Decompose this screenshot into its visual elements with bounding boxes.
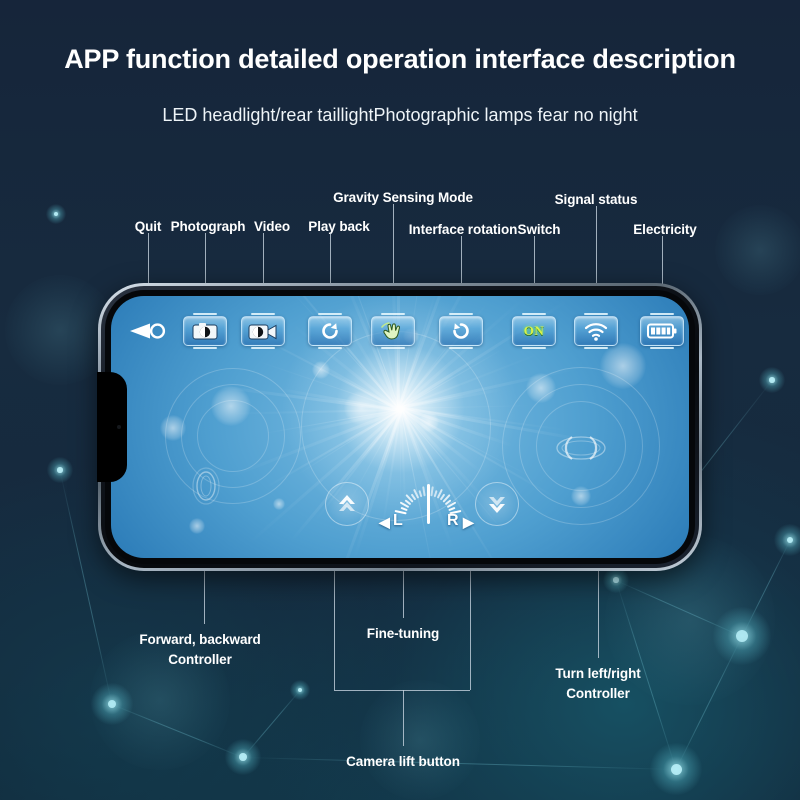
callout-label-battery: Electricity [633, 220, 696, 240]
toolbar-camera-button[interactable] [183, 316, 227, 346]
screen-orb [273, 498, 285, 510]
leader-line [470, 556, 471, 690]
callout-line1: Camera lift button [346, 752, 460, 772]
gauge-tick [418, 490, 422, 497]
gauge-tick [422, 486, 425, 496]
toolbar-wifi-button[interactable] [574, 316, 618, 346]
right-side-pad[interactable] [551, 425, 611, 471]
bottom-callout-3: Camera lift button [346, 752, 460, 772]
app-toolbar: ON [111, 316, 689, 356]
callout-label-on-switch: Switch [518, 220, 561, 240]
toolbar-on-switch-button[interactable]: ON [512, 316, 556, 346]
replay-icon [319, 320, 341, 342]
bottom-callout-0: Forward, backwardController [139, 630, 260, 669]
callout-line1: Turn left/right [555, 664, 640, 684]
chevron-down-icon [486, 492, 508, 516]
forward-backward-joystick[interactable] [325, 482, 369, 526]
chevron-up-icon [336, 492, 358, 516]
callout-line1: Forward, backward [139, 630, 260, 650]
bottom-callout-2: Turn left/rightController [555, 664, 640, 703]
callout-label-camcorder: Video [254, 217, 290, 237]
camera-icon [192, 322, 218, 340]
phone-notch [97, 372, 127, 482]
callout-label-camera: Photograph [171, 217, 246, 237]
gauge-needle [427, 484, 430, 524]
bottom-callout-1: Fine-tuning [367, 624, 439, 644]
page-subtitle: LED headlight/rear taillightPhotographic… [0, 105, 800, 126]
page-title: APP function detailed operation interfac… [0, 44, 800, 75]
speaker-icon [117, 425, 121, 429]
left-side-pad[interactable] [189, 463, 223, 509]
leader-line [403, 690, 404, 746]
network-node-core [769, 377, 775, 383]
fine-tuning-gauge[interactable]: ◀ L R ▶ [373, 476, 483, 538]
wifi-icon [583, 321, 609, 341]
network-node-core [239, 753, 247, 761]
callout-label-replay: Play back [308, 217, 369, 237]
callout-line1: Fine-tuning [367, 624, 439, 644]
camcorder-icon [248, 322, 278, 340]
toolbar-rotate-button[interactable] [439, 316, 483, 346]
network-node-core [57, 467, 63, 473]
trim-left-label: L [393, 512, 403, 530]
toolbar-replay-button[interactable] [308, 316, 352, 346]
back-arrow-icon[interactable] [129, 316, 167, 346]
trim-left-arrow[interactable]: ◀ [379, 514, 390, 531]
rotate-icon [450, 320, 472, 342]
network-node-core [671, 764, 682, 775]
battery-icon [647, 322, 677, 340]
callout-label-rotate: Interface rotation [409, 220, 517, 240]
phone-screen: ON [111, 296, 689, 558]
toolbar-camcorder-button[interactable] [241, 316, 285, 346]
background-blob [715, 205, 800, 295]
callout-label-hand-tilt: Gravity Sensing Mode [333, 188, 473, 208]
phone-mockup: ON [98, 283, 702, 571]
callout-line2: Controller [555, 684, 640, 704]
leader-line [334, 556, 335, 690]
callout-line2: Controller [139, 650, 260, 670]
background-blob [360, 680, 480, 800]
toolbar-hand-tilt-button[interactable] [371, 316, 415, 346]
screen-orb [189, 518, 205, 534]
trim-right-arrow[interactable]: ▶ [463, 514, 474, 531]
leader-bracket [334, 690, 470, 691]
screen-ring [165, 368, 301, 504]
trim-right-label: R [447, 512, 459, 530]
on-switch-icon: ON [524, 323, 545, 339]
toolbar-battery-button[interactable] [640, 316, 684, 346]
hand-tilt-icon [380, 321, 406, 341]
